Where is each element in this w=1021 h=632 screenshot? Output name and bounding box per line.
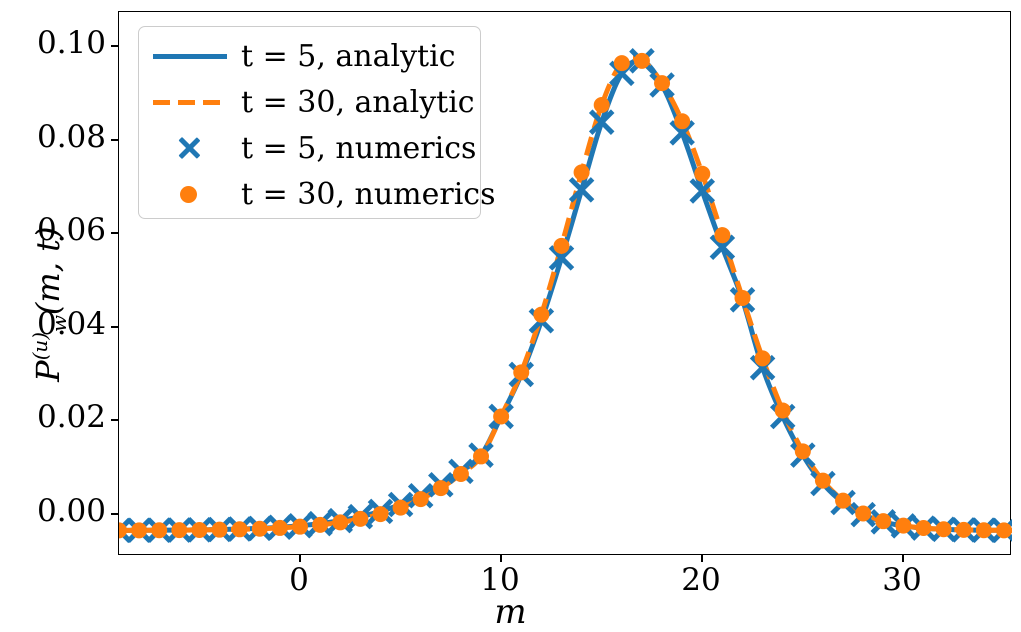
marker-dot xyxy=(996,522,1012,538)
marker-dot xyxy=(875,513,891,529)
marker-dot xyxy=(895,518,911,534)
marker-dot xyxy=(312,517,328,533)
marker-dot xyxy=(212,522,228,538)
ytick-0.10 xyxy=(111,45,118,47)
marker-dot xyxy=(413,491,429,507)
marker-dot xyxy=(493,409,509,425)
marker-dot xyxy=(232,521,248,537)
marker-dot xyxy=(815,473,831,489)
marker-dot xyxy=(976,522,992,538)
marker-dot xyxy=(292,519,308,535)
marker-dot xyxy=(855,505,871,521)
marker-dot xyxy=(513,364,529,380)
marker-dot xyxy=(473,448,489,464)
marker-dot xyxy=(714,227,730,243)
marker-dot xyxy=(694,166,710,182)
marker-dot xyxy=(453,466,469,482)
marker-dot xyxy=(553,238,569,254)
marker-dot xyxy=(634,53,650,69)
xtick-30 xyxy=(902,555,904,562)
marker-dot xyxy=(775,402,791,418)
marker-dot xyxy=(352,511,368,527)
legend-item-t30-analytic: t = 30, analytic xyxy=(139,79,480,125)
marker-dot xyxy=(755,350,771,366)
marker-dot xyxy=(131,522,147,538)
xtick-0 xyxy=(299,555,301,562)
legend-x-marker-swatch xyxy=(139,125,241,171)
ytick-0.04 xyxy=(111,326,118,328)
legend-solid-line-swatch xyxy=(139,33,241,79)
ytick-0.02 xyxy=(111,419,118,421)
legend: t = 5, analytic t = 30, analytic t = 5, … xyxy=(138,26,481,219)
marker-dot xyxy=(393,500,409,516)
y-axis-label: P(u)w(m, t) xyxy=(29,94,71,514)
legend-item-t30-numerics: t = 30, numerics xyxy=(139,171,480,217)
marker-dot xyxy=(252,521,268,537)
x-marker-icon xyxy=(177,136,201,160)
xtick-10 xyxy=(500,555,502,562)
legend-label-t5-analytic: t = 5, analytic xyxy=(241,39,456,74)
marker-dot xyxy=(433,480,449,496)
ylabel-rest: (m, t) xyxy=(29,227,67,316)
dot-marker-icon xyxy=(180,186,197,203)
legend-label-t30-analytic: t = 30, analytic xyxy=(241,85,475,120)
x-axis-label: m xyxy=(0,592,1021,632)
legend-dot-marker-swatch xyxy=(139,171,241,217)
marker-dot xyxy=(372,506,388,522)
marker-dot xyxy=(734,290,750,306)
marker-dot xyxy=(191,522,207,538)
marker-dot xyxy=(272,520,288,536)
legend-item-t5-numerics: t = 5, numerics xyxy=(139,125,480,171)
marker-dot xyxy=(835,493,851,509)
legend-item-t5-analytic: t = 5, analytic xyxy=(139,33,480,79)
ylabel-subscript: w xyxy=(48,315,71,332)
marker-dot xyxy=(171,522,187,538)
figure: 0 10 20 30 0.00 0.02 0.04 0.06 0.08 0.10… xyxy=(0,0,1021,632)
ytick-0.08 xyxy=(111,139,118,141)
legend-dashed-line-swatch xyxy=(139,79,241,125)
marker-dot xyxy=(332,514,348,530)
legend-label-t30-numerics: t = 30, numerics xyxy=(241,177,496,212)
marker-dot xyxy=(151,522,167,538)
marker-dot xyxy=(795,443,811,459)
marker-dot xyxy=(533,307,549,323)
marker-dot xyxy=(956,522,972,538)
yticklabel-0.10: 0.10 xyxy=(0,25,106,61)
marker-dot xyxy=(936,521,952,537)
ylabel-superscript: (u) xyxy=(29,332,52,360)
ytick-0.00 xyxy=(111,513,118,515)
ytick-0.06 xyxy=(111,232,118,234)
marker-dot xyxy=(594,97,610,113)
xtick-20 xyxy=(701,555,703,562)
marker-dot xyxy=(574,164,590,180)
marker-dot xyxy=(654,75,670,91)
marker-dot xyxy=(674,113,690,129)
legend-label-t5-numerics: t = 5, numerics xyxy=(241,131,476,166)
ylabel-base: P xyxy=(29,360,67,382)
marker-dot xyxy=(916,520,932,536)
marker-dot xyxy=(614,55,630,71)
